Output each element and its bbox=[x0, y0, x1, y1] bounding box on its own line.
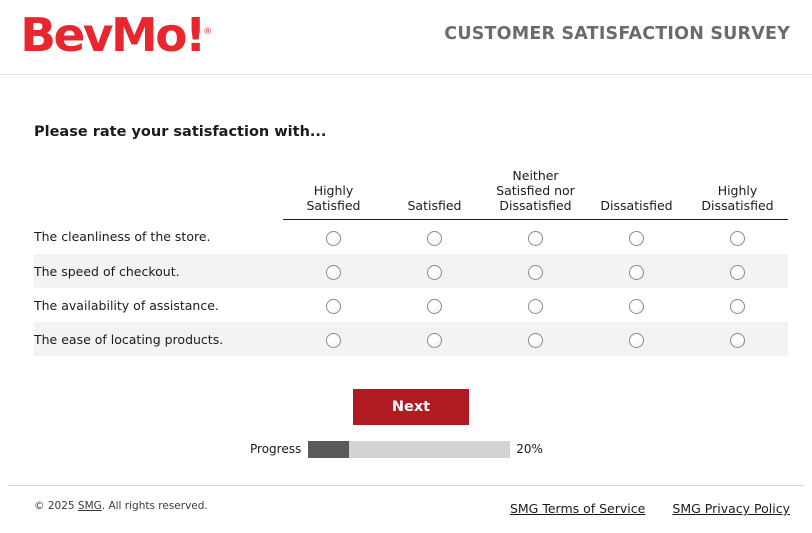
radio-speed-highly-dissatisfied[interactable] bbox=[730, 265, 745, 280]
column-header-neither: Neither Satisfied nor Dissatisfied bbox=[485, 168, 586, 220]
radio-locating-neither[interactable] bbox=[528, 333, 543, 348]
column-header-line: Satisfied nor bbox=[485, 183, 586, 198]
table-row: The ease of locating products. bbox=[34, 322, 788, 356]
table-row: The availability of assistance. bbox=[34, 288, 788, 322]
radio-cell[interactable] bbox=[586, 220, 687, 255]
row-label-availability-of-assistance: The availability of assistance. bbox=[34, 288, 283, 322]
column-header-highly-dissatisfied: Highly Dissatisfied bbox=[687, 168, 788, 220]
radio-cleanliness-satisfied[interactable] bbox=[427, 231, 442, 246]
radio-cell[interactable] bbox=[485, 220, 586, 255]
radio-locating-satisfied[interactable] bbox=[427, 333, 442, 348]
radio-cell[interactable] bbox=[687, 322, 788, 356]
column-header-highly-satisfied: Highly Satisfied bbox=[283, 168, 384, 220]
radio-cleanliness-neither[interactable] bbox=[528, 231, 543, 246]
link-smg-privacy-policy[interactable]: SMG Privacy Policy bbox=[672, 501, 790, 516]
radio-cell[interactable] bbox=[384, 288, 485, 322]
footer-divider bbox=[8, 485, 804, 486]
radio-cell[interactable] bbox=[687, 288, 788, 322]
progress-section: Progress 20% bbox=[250, 440, 570, 458]
row-label-cleanliness: The cleanliness of the store. bbox=[34, 220, 283, 255]
radio-cleanliness-highly-dissatisfied[interactable] bbox=[730, 231, 745, 246]
radio-speed-satisfied[interactable] bbox=[427, 265, 442, 280]
row-label-ease-of-locating-products: The ease of locating products. bbox=[34, 322, 283, 356]
column-header-line: Neither bbox=[485, 168, 586, 183]
copyright-suffix: . All rights reserved. bbox=[102, 500, 208, 512]
radio-cleanliness-dissatisfied[interactable] bbox=[629, 231, 644, 246]
radio-locating-highly-dissatisfied[interactable] bbox=[730, 333, 745, 348]
column-header-line: Satisfied bbox=[384, 198, 485, 213]
radio-assistance-neither[interactable] bbox=[528, 299, 543, 314]
next-button[interactable]: Next bbox=[353, 389, 469, 425]
column-header-line: Highly bbox=[283, 183, 384, 198]
matrix-corner-cell bbox=[34, 168, 283, 220]
radio-assistance-satisfied[interactable] bbox=[427, 299, 442, 314]
radio-speed-neither[interactable] bbox=[528, 265, 543, 280]
row-label-speed-of-checkout: The speed of checkout. bbox=[34, 254, 283, 288]
column-header-line: Dissatisfied bbox=[586, 198, 687, 213]
table-row: The cleanliness of the store. bbox=[34, 220, 788, 255]
radio-cell[interactable] bbox=[283, 322, 384, 356]
progress-percent-label: 20% bbox=[516, 442, 543, 456]
radio-cell[interactable] bbox=[687, 220, 788, 255]
radio-assistance-highly-dissatisfied[interactable] bbox=[730, 299, 745, 314]
registered-trademark-icon: ® bbox=[203, 7, 212, 57]
radio-cell[interactable] bbox=[384, 322, 485, 356]
copyright-prefix: © 2025 bbox=[34, 500, 78, 512]
progress-bar bbox=[308, 441, 510, 458]
radio-cell[interactable] bbox=[485, 254, 586, 288]
radio-speed-dissatisfied[interactable] bbox=[629, 265, 644, 280]
page-header: BevMo!® CUSTOMER SATISFACTION SURVEY bbox=[0, 0, 812, 75]
column-header-line: Dissatisfied bbox=[687, 198, 788, 213]
radio-cell[interactable] bbox=[283, 254, 384, 288]
column-header-line: Satisfied bbox=[283, 198, 384, 213]
matrix-header-row: Highly Satisfied Satisfied Neither Satis… bbox=[34, 168, 788, 220]
radio-locating-highly-satisfied[interactable] bbox=[326, 333, 341, 348]
column-header-line: Highly bbox=[687, 183, 788, 198]
logo-wordmark: BevMo! bbox=[20, 10, 204, 60]
bevmo-logo: BevMo!® bbox=[22, 9, 211, 59]
radio-assistance-highly-satisfied[interactable] bbox=[326, 299, 341, 314]
column-header-line: Dissatisfied bbox=[485, 198, 586, 213]
matrix-header: Highly Satisfied Satisfied Neither Satis… bbox=[34, 168, 788, 220]
radio-cell[interactable] bbox=[586, 322, 687, 356]
survey-title: CUSTOMER SATISFACTION SURVEY bbox=[444, 24, 790, 44]
radio-cell[interactable] bbox=[687, 254, 788, 288]
column-header-satisfied: Satisfied bbox=[384, 168, 485, 220]
progress-bar-fill bbox=[308, 441, 348, 458]
matrix-body: The cleanliness of the store. The speed … bbox=[34, 220, 788, 357]
radio-cell[interactable] bbox=[384, 220, 485, 255]
table-row: The speed of checkout. bbox=[34, 254, 788, 288]
footer-links: SMG Terms of Service SMG Privacy Policy bbox=[488, 498, 790, 517]
radio-cell[interactable] bbox=[586, 288, 687, 322]
radio-assistance-dissatisfied[interactable] bbox=[629, 299, 644, 314]
radio-locating-dissatisfied[interactable] bbox=[629, 333, 644, 348]
radio-cell[interactable] bbox=[485, 288, 586, 322]
radio-cell[interactable] bbox=[586, 254, 687, 288]
radio-speed-highly-satisfied[interactable] bbox=[326, 265, 341, 280]
smg-link[interactable]: SMG bbox=[78, 500, 102, 512]
radio-cell[interactable] bbox=[283, 288, 384, 322]
satisfaction-matrix: Highly Satisfied Satisfied Neither Satis… bbox=[34, 168, 788, 356]
footer-copyright: © 2025 SMG. All rights reserved. bbox=[34, 500, 208, 512]
link-smg-terms-of-service[interactable]: SMG Terms of Service bbox=[510, 501, 645, 516]
matrix-table: Highly Satisfied Satisfied Neither Satis… bbox=[34, 168, 788, 356]
radio-cleanliness-highly-satisfied[interactable] bbox=[326, 231, 341, 246]
column-header-dissatisfied: Dissatisfied bbox=[586, 168, 687, 220]
radio-cell[interactable] bbox=[485, 322, 586, 356]
radio-cell[interactable] bbox=[384, 254, 485, 288]
question-prompt: Please rate your satisfaction with... bbox=[34, 124, 326, 140]
progress-label: Progress bbox=[250, 442, 301, 456]
radio-cell[interactable] bbox=[283, 220, 384, 255]
